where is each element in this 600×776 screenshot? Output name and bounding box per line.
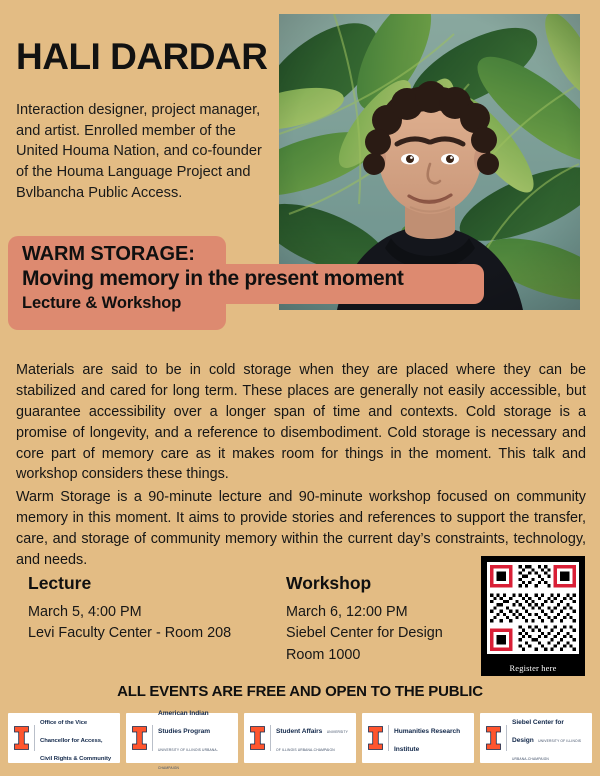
event-workshop-datetime: March 6, 12:00 PM [286,602,506,624]
event-lecture-location: Levi Faculty Center - Room 208 [28,623,248,645]
logo-divider [506,725,507,751]
event-lecture-heading: Lecture [28,572,248,595]
sponsor-logo-siebel-center-for-design: Siebel Center for Design University of I… [480,713,592,763]
description-paragraph-1: Materials are said to be in cold storage… [16,360,586,485]
logo-divider [388,725,389,751]
event-workshop-room: Room 1000 [286,645,506,667]
sponsor-logo-student-affairs: Student Affairs University of Illinois U… [244,713,356,763]
event-title-subtitle: Moving memory in the present moment [22,266,492,292]
sponsor-name: Office of the Vice Chancellor for Access… [40,720,111,762]
event-workshop-heading: Workshop [286,572,506,595]
logo-divider [152,725,153,751]
illinois-block-i-icon [485,725,502,751]
event-workshop: Workshop March 6, 12:00 PM Siebel Center… [286,572,506,667]
logo-divider [270,725,271,751]
logo-divider [34,725,35,751]
sponsor-logo-strip: Office of the Vice Chancellor for Access… [8,713,592,763]
qr-code-icon[interactable] [487,562,579,654]
event-poster: HALI DARDAR Interaction designer, projec… [0,0,600,776]
speaker-bio: Interaction designer, project manager, a… [16,100,264,204]
sponsor-logo-american-indian-studies: American Indian Studies Program Universi… [126,713,238,763]
illinois-block-i-icon [13,725,30,751]
title-banner: WARM STORAGE: Moving memory in the prese… [8,236,488,330]
free-admission-notice: ALL EVENTS ARE FREE AND OPEN TO THE PUBL… [0,683,600,700]
qr-caption: Register here [481,664,585,673]
speaker-name: HALI DARDAR [16,38,276,77]
event-title-format: Lecture & Workshop [22,293,492,314]
sponsor-subtitle: University of Illinois Urbana-Champaign [158,748,218,770]
event-lecture-datetime: March 5, 4:00 PM [28,602,248,624]
event-lecture: Lecture March 5, 4:00 PM Levi Faculty Ce… [28,572,248,645]
illinois-block-i-icon [367,725,384,751]
illinois-block-i-icon [131,725,148,751]
sponsor-logo-humanities-research-institute: Humanities Research Institute [362,713,474,763]
sponsor-name: American Indian Studies Program [158,710,210,735]
registration-qr-card[interactable]: Register here [481,556,585,676]
sponsor-name: Humanities Research Institute [394,728,460,753]
sponsor-name: Student Affairs [276,728,322,735]
event-title-main: WARM STORAGE: [22,242,492,266]
banner-text-group: WARM STORAGE: Moving memory in the prese… [22,242,492,314]
event-workshop-location: Siebel Center for Design [286,623,506,645]
illinois-block-i-icon [249,725,266,751]
sponsor-logo-vice-chancellor: Office of the Vice Chancellor for Access… [8,713,120,763]
